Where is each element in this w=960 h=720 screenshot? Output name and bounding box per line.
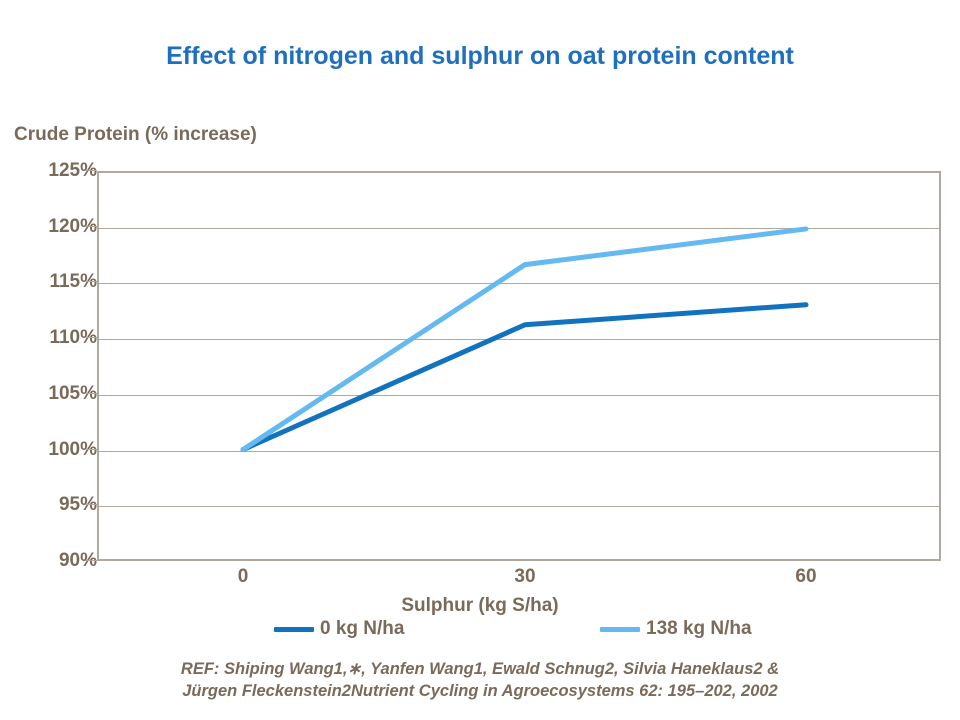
x-axis-title: Sulphur (kg S/ha) — [0, 595, 960, 617]
legend: 0 kg N/ha138 kg N/ha — [0, 618, 960, 646]
y-axis-tick-mark — [85, 449, 97, 450]
chart-title: Effect of nitrogen and sulphur on oat pr… — [0, 42, 960, 71]
y-axis-tick-label: 125% — [19, 160, 97, 182]
y-axis-tick-mark — [85, 504, 97, 505]
y-axis-tick-mark — [85, 281, 97, 282]
chart-container: Effect of nitrogen and sulphur on oat pr… — [0, 0, 960, 720]
y-axis-tick-label: 115% — [19, 271, 97, 293]
legend-label: 0 kg N/ha — [320, 618, 404, 640]
gridline — [99, 451, 939, 452]
y-axis-tick-mark — [85, 337, 97, 338]
legend-item-0[interactable]: 0 kg N/ha — [274, 618, 404, 640]
legend-swatch-icon — [600, 627, 640, 632]
gridline — [99, 395, 939, 396]
legend-item-1[interactable]: 138 kg N/ha — [600, 618, 752, 640]
x-axis-tick-label: 60 — [795, 566, 816, 588]
y-axis-tick-mark — [85, 170, 97, 171]
y-axis-tick-label: 90% — [19, 550, 97, 572]
gridline — [99, 283, 939, 284]
y-axis-tick-mark — [85, 226, 97, 227]
x-axis-tick-label: 30 — [514, 566, 535, 588]
y-axis-tick-label: 100% — [19, 439, 97, 461]
plot-area — [97, 171, 941, 561]
legend-label: 138 kg N/ha — [646, 618, 752, 640]
y-axis-tick-mark — [85, 560, 97, 561]
y-axis-tick-label: 120% — [19, 216, 97, 238]
gridline — [99, 228, 939, 229]
y-axis-tick-label: 95% — [19, 494, 97, 516]
legend-swatch-icon — [274, 627, 314, 632]
y-axis-tick-label: 105% — [19, 383, 97, 405]
reference-line-2: Jürgen Fleckenstein2Nutrient Cycling in … — [0, 680, 960, 702]
reference-line-1: REF: Shiping Wang1,∗, Yanfen Wang1, Ewal… — [0, 658, 960, 680]
y-axis-tick-label: 110% — [19, 327, 97, 349]
gridline — [99, 506, 939, 507]
reference-footnote: REF: Shiping Wang1,∗, Yanfen Wang1, Ewal… — [0, 658, 960, 702]
x-axis-tick-label: 0 — [238, 566, 249, 588]
y-axis-tick-mark — [85, 393, 97, 394]
gridline — [99, 339, 939, 340]
